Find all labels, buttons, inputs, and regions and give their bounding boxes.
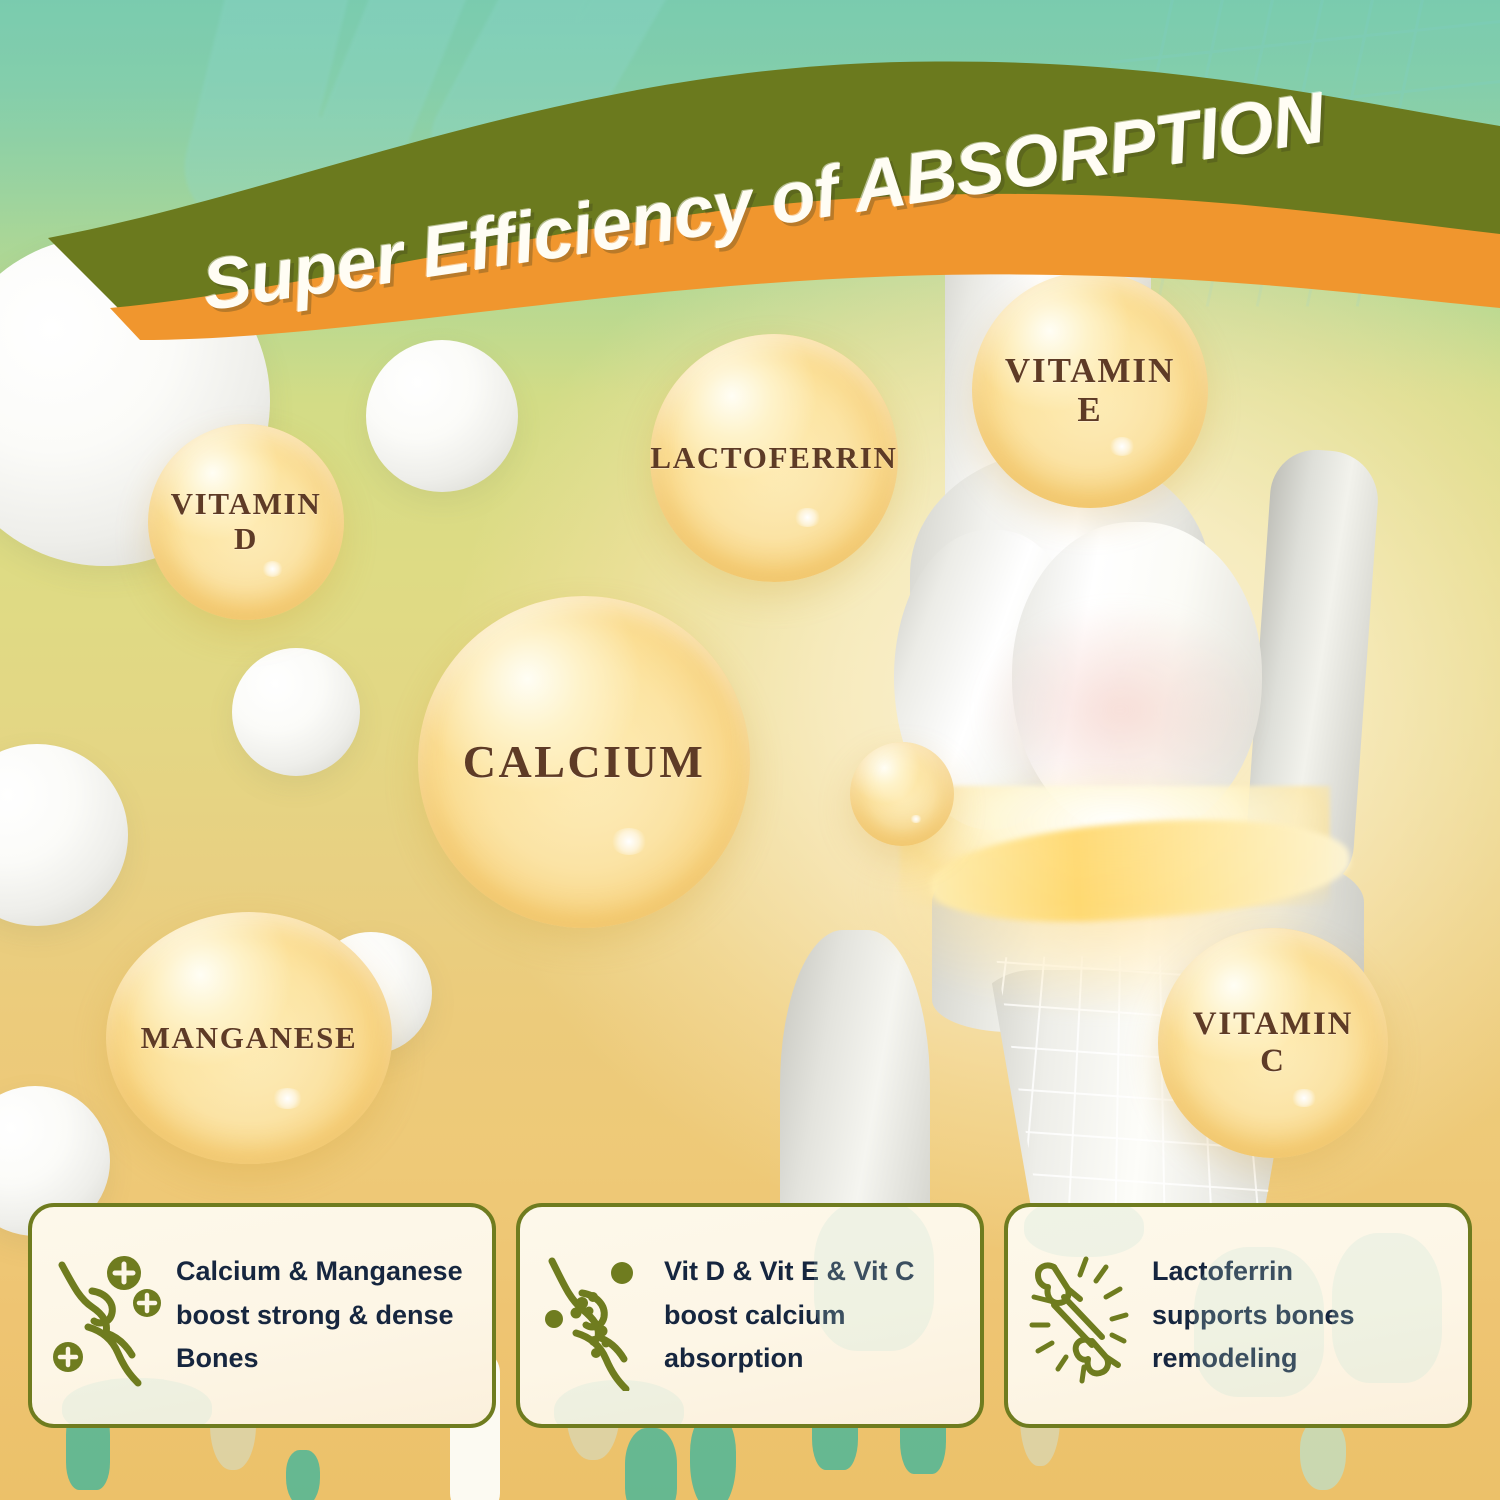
bubble-label-vitamin-c: VITAMIN C xyxy=(1193,1006,1354,1080)
banner-waves xyxy=(0,40,1500,340)
decorative-sphere xyxy=(232,648,360,776)
benefit-line-3: Bones xyxy=(176,1337,478,1381)
plus-badge xyxy=(107,1256,141,1290)
bubble-label-vitamin-e: VITAMIN E xyxy=(1005,351,1175,429)
bubble-vitamin-d[interactable]: VITAMIN D xyxy=(148,424,344,620)
benefit-line-1: Calcium & Manganese xyxy=(176,1250,478,1294)
plus-badge xyxy=(53,1342,83,1372)
bubble-label-lactoferrin: LACTOFERRIN xyxy=(650,441,897,476)
benefit-line-3: absorption xyxy=(664,1337,966,1381)
headline-banner: Super Efficiency of ABSORPTION xyxy=(0,40,1500,340)
bubble-label-calcium: CALCIUM xyxy=(463,736,706,788)
bubble-lactoferrin[interactable]: LACTOFERRIN xyxy=(650,334,898,582)
joint-absorption-dots-icon xyxy=(536,1241,658,1391)
infographic-canvas: VITAMIN D LACTOFERRIN VITAMIN E CALCIUM … xyxy=(0,0,1500,1500)
bubble-vitamin-c[interactable]: VITAMIN C xyxy=(1158,928,1388,1158)
bubble-label-vitamin-d: VITAMIN D xyxy=(171,487,322,556)
bubble-calcium[interactable]: CALCIUM xyxy=(418,596,750,928)
benefit-card-lactoferrin-remodeling[interactable]: Lactoferrin supports bones remodeling xyxy=(1004,1203,1472,1428)
bubble-manganese[interactable]: MANGANESE xyxy=(106,912,392,1164)
decorative-sphere xyxy=(366,340,518,492)
benefit-card-calcium-manganese[interactable]: Calcium & Manganese boost strong & dense… xyxy=(28,1203,496,1428)
knee-joint-plus-icon xyxy=(48,1241,170,1391)
benefit-card-text: Calcium & Manganese boost strong & dense… xyxy=(170,1250,478,1381)
bone-remodeling-sparkle-icon xyxy=(1024,1241,1146,1391)
decorative-bubble-small xyxy=(850,742,954,846)
benefit-card-vitamins-absorption[interactable]: Vit D & Vit E & Vit C boost calcium abso… xyxy=(516,1203,984,1428)
bubble-label-manganese: MANGANESE xyxy=(141,1021,358,1056)
benefit-line-2: boost strong & dense xyxy=(176,1294,478,1338)
benefit-cards-row: Calcium & Manganese boost strong & dense… xyxy=(28,1203,1472,1428)
plus-badge xyxy=(133,1289,161,1317)
